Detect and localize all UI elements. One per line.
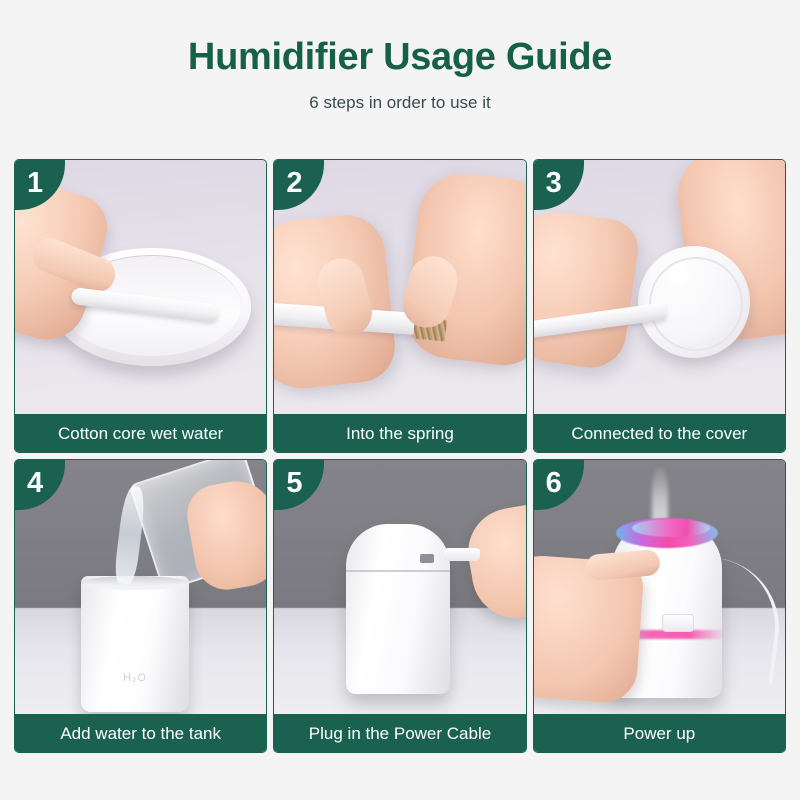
humidifier-body-icon (346, 524, 450, 694)
step-card-1[interactable]: 1 Cotton core wet water (14, 159, 267, 453)
steps-grid: 1 Cotton core wet water 2 Into (14, 159, 786, 753)
body-seam-icon (346, 570, 450, 572)
water-tank-icon: H₂O (81, 576, 189, 712)
step-caption-3: Connected to the cover (534, 414, 785, 452)
step-number-4: 4 (27, 469, 43, 498)
tank-lip-icon (81, 576, 189, 590)
step-number-3: 3 (546, 169, 562, 198)
step-caption-1: Cotton core wet water (15, 414, 266, 452)
step-photo-6: 6 (534, 460, 785, 714)
step-photo-2: 2 (274, 160, 525, 414)
step-number-1: 1 (27, 169, 43, 198)
step-number-5: 5 (286, 469, 302, 498)
hand-icon (462, 497, 526, 624)
photo-background-lavender (534, 160, 785, 414)
step-card-6[interactable]: 6 Power up (533, 459, 786, 753)
step-photo-1: 1 (15, 160, 266, 414)
humidifier-cover-icon (638, 246, 750, 358)
step-caption-2: Into the spring (274, 414, 525, 452)
infographic-page: Humidifier Usage Guide 6 steps in order … (0, 0, 800, 800)
power-cable-icon (703, 558, 785, 684)
tank-label: H₂O (81, 672, 189, 684)
page-title: Humidifier Usage Guide (0, 38, 800, 78)
step-number-2: 2 (286, 169, 302, 198)
power-plug-icon (444, 548, 480, 561)
photo-background-studio: H₂O (15, 460, 266, 714)
step-photo-5: 5 (274, 460, 525, 714)
step-card-5[interactable]: 5 Plug in the Power Cable (273, 459, 526, 753)
step-photo-3: 3 (534, 160, 785, 414)
page-header: Humidifier Usage Guide 6 steps in order … (0, 0, 800, 113)
led-top-icon (632, 519, 710, 537)
step-caption-6: Power up (534, 714, 785, 752)
water-stream-icon (113, 485, 147, 585)
photo-background-studio (534, 460, 785, 714)
step-card-4[interactable]: H₂O 4 Add water to the tank (14, 459, 267, 753)
photo-background-lavender (15, 160, 266, 414)
step-caption-5: Plug in the Power Cable (274, 714, 525, 752)
power-button-icon[interactable] (662, 614, 694, 632)
step-number-6: 6 (546, 469, 562, 498)
page-subtitle: 6 steps in order to use it (0, 94, 800, 113)
photo-background-studio (274, 460, 525, 714)
step-card-2[interactable]: 2 Into the spring (273, 159, 526, 453)
step-card-3[interactable]: 3 Connected to the cover (533, 159, 786, 453)
led-light-icon (616, 518, 718, 548)
step-photo-4: H₂O 4 (15, 460, 266, 714)
power-port-icon (420, 554, 434, 563)
photo-background-lavender (274, 160, 525, 414)
step-caption-4: Add water to the tank (15, 714, 266, 752)
left-hand-icon (534, 206, 642, 372)
